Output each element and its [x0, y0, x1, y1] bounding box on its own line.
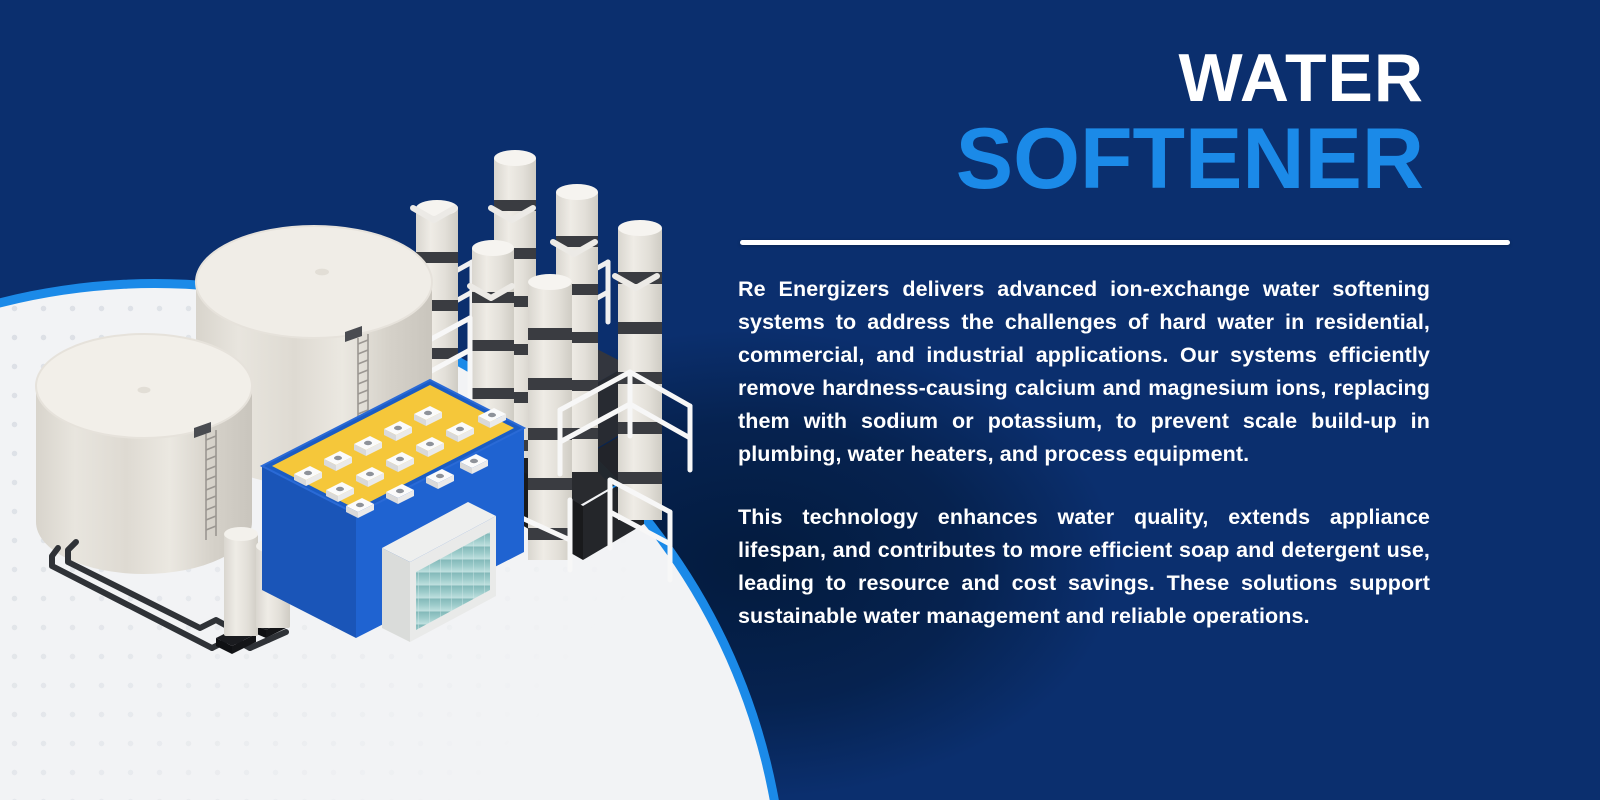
title-divider [740, 240, 1510, 245]
column-5 [528, 274, 572, 560]
paragraph-1: Re Energizers delivers advanced ion-exch… [738, 273, 1430, 471]
banner-root: WATER SOFTENER Re Energizers delivers ad… [0, 0, 1600, 800]
body-text-wrap: Re Energizers delivers advanced ion-exch… [738, 273, 1432, 633]
content-column: WATER SOFTENER Re Energizers delivers ad… [738, 0, 1516, 800]
column-6 [618, 220, 662, 520]
page-title-line2: SOFTENER [738, 117, 1424, 201]
page-title-line1: WATER [738, 46, 1424, 111]
isometric-plant-illustration [0, 0, 780, 800]
paragraph-2: This technology enhances water quality, … [738, 501, 1430, 633]
storage-tank-front [36, 334, 252, 574]
title-block: WATER SOFTENER [738, 46, 1432, 202]
